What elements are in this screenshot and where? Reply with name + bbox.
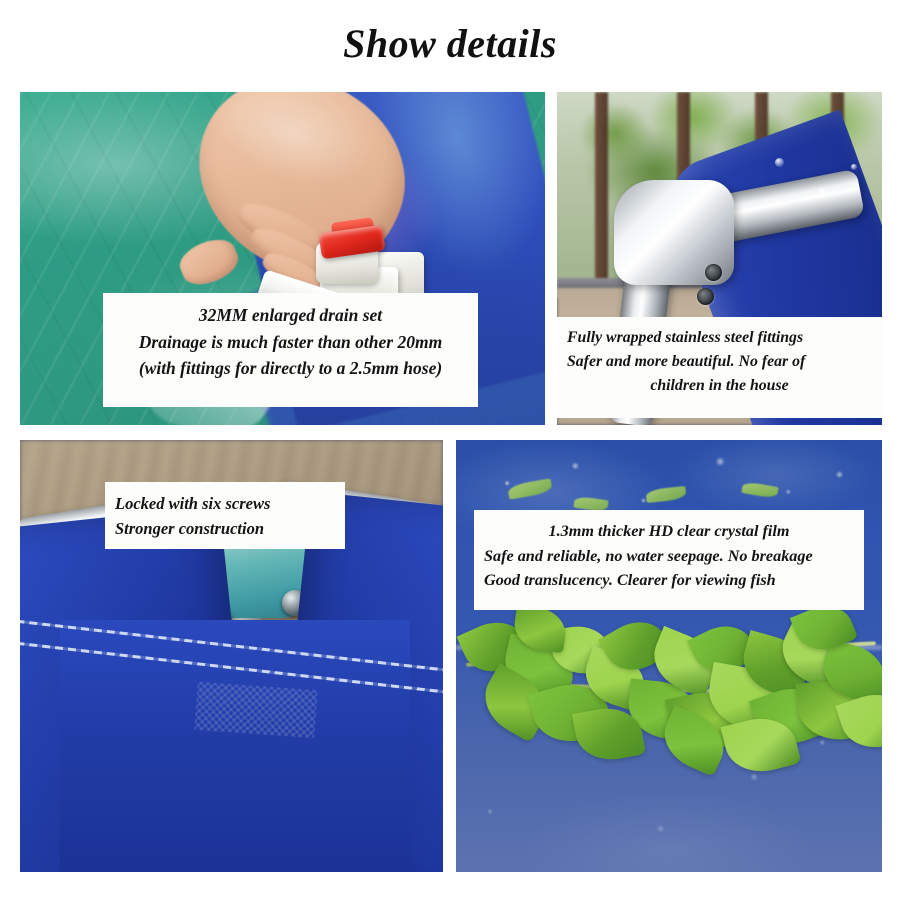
caption-line: children in the house	[567, 374, 872, 398]
set-screw	[705, 264, 722, 281]
caption-line: 1.3mm thicker HD clear crystal film	[484, 519, 854, 544]
caption-line: Safer and more beautiful. No fear of	[567, 350, 872, 374]
product-detail-page: Show details 32MM enlarged drain set Dra…	[0, 0, 900, 900]
caption-stainless-fittings: Fully wrapped stainless steel fittings S…	[557, 317, 882, 418]
photo-panel-crystal-film: 1.3mm thicker HD clear crystal film Safe…	[456, 440, 882, 872]
caption-line: Fully wrapped stainless steel fittings	[567, 326, 872, 350]
caption-line: Safe and reliable, no water seepage. No …	[484, 544, 854, 569]
caption-line: Stronger construction	[115, 516, 335, 541]
page-title: Show details	[0, 20, 900, 67]
water-droplet	[775, 158, 784, 167]
caption-line: Good translucency. Clearer for viewing f…	[484, 568, 854, 593]
photo-panel-six-screws: Locked with six screws Stronger construc…	[20, 440, 443, 872]
water-droplet	[851, 164, 857, 170]
caption-drain-set: 32MM enlarged drain set Drainage is much…	[103, 293, 478, 407]
water-droplet	[819, 188, 826, 195]
crystal-film-photo	[456, 440, 882, 872]
caption-six-screws: Locked with six screws Stronger construc…	[105, 482, 345, 549]
caption-crystal-film: 1.3mm thicker HD clear crystal film Safe…	[474, 510, 864, 610]
photo-panel-drain-set: 32MM enlarged drain set Drainage is much…	[20, 92, 545, 425]
caption-line: Locked with six screws	[115, 491, 335, 516]
caption-line: Drainage is much faster than other 20mm	[113, 329, 468, 356]
caption-line: 32MM enlarged drain set	[113, 302, 468, 329]
photo-panel-stainless-fittings: Fully wrapped stainless steel fittings S…	[557, 92, 882, 425]
fence-post	[595, 92, 608, 285]
set-screw	[697, 288, 714, 305]
caption-line: (with fittings for directly to a 2.5mm h…	[113, 355, 468, 382]
mesh-patch	[194, 682, 317, 738]
